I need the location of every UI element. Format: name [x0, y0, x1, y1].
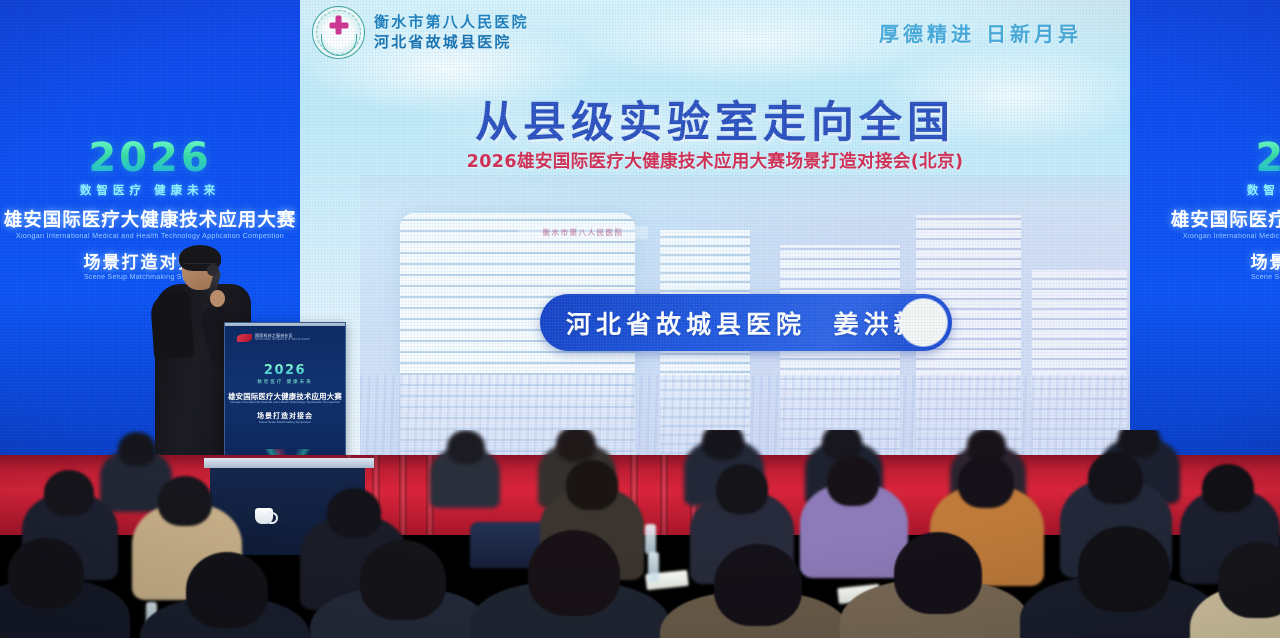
laurel-wreath-icon	[321, 34, 357, 56]
brand-year: 2026	[1152, 138, 1280, 178]
podium-main-title-en: Xiongan International Medical and Health…	[225, 400, 345, 404]
audience-area	[0, 430, 1280, 638]
podium-tagline: 数智医疗 健康未来	[225, 379, 345, 385]
presenter-hand	[210, 290, 225, 307]
podium-top-surface	[224, 322, 346, 326]
slide-subtitle: 2026雄安国际医疗大健康技术应用大赛场景打造对接会(北京)	[300, 148, 1130, 173]
brand-main-title: 雄安国际医疗大健康技术应用大赛	[0, 206, 300, 232]
organizer-mark-icon	[237, 334, 252, 342]
hospital-name-block: 衡水市第八人民医院 河北省故城县医院	[374, 13, 529, 53]
podium-year: 2026	[225, 363, 345, 378]
photo-horizon	[360, 175, 1130, 217]
organizer-name-en: NATIONAL SCIENCE & TECH PARK	[255, 338, 310, 342]
brand-tagline: 数智医疗 健康未来	[1152, 182, 1280, 198]
brand-tagline: 数智医疗 健康未来	[0, 182, 300, 198]
hospital-motto: 厚德精进 日新月异	[879, 18, 1082, 47]
led-wall-right-branding-panel: 2026 数智医疗 健康未来 雄安国际医疗大健康技术应用大赛 Xiongan I…	[1130, 0, 1280, 470]
speaker-name-bar: 河北省故城县医院 姜洪新	[540, 294, 952, 351]
hospital-branding: 衡水市第八人民医院 河北省故城县医院	[312, 6, 529, 59]
hospital-name-line1: 衡水市第八人民医院	[374, 13, 529, 33]
building-sign-text: 衡水市第八人民医院	[518, 226, 648, 239]
brand-main-title: 雄安国际医疗大健康技术应用大赛	[1152, 206, 1280, 232]
hospital-emblem-icon	[312, 6, 365, 59]
brand-main-title-en: Xiongan International Medical and Health…	[0, 233, 300, 240]
brand-subtitle: 场景打造对接会	[1152, 248, 1280, 273]
brand-year: 2026	[0, 138, 300, 178]
presentation-photo: 2026 数智医疗 健康未来 雄安国际医疗大健康技术应用大赛 Xiongan I…	[0, 0, 1280, 638]
slide-main-title: 从县级实验室走向全国	[300, 88, 1130, 150]
brand-main-title-en: Xiongan International Medical and Health…	[1149, 233, 1280, 240]
speaker-photo-placeholder	[900, 299, 947, 346]
water-bottle	[648, 552, 659, 582]
podium-organizer-logo: 国家科技之窗创业区 NATIONAL SCIENCE & TECH PARK	[237, 333, 310, 342]
presenter-left-shoulder	[150, 291, 195, 360]
speaker-affiliation: 河北省故城县医院	[566, 310, 806, 339]
speaker-affiliation-and-name: 河北省故城县医院 姜洪新	[566, 305, 923, 341]
water-bottle	[645, 524, 656, 554]
hospital-name-line2: 河北省故城县医院	[374, 33, 529, 53]
podium-subtitle-en: Scene Setup Matchmaking Symposium	[225, 420, 345, 424]
organizer-text: 国家科技之窗创业区 NATIONAL SCIENCE & TECH PARK	[255, 333, 310, 342]
presentation-slide: 衡水市第八人民医院 衡水市第八人民医院 河北省故城县医院 厚德精进 日新月异 从…	[300, 0, 1130, 470]
brand-block-right: 2026 数智医疗 健康未来 雄安国际医疗大健康技术应用大赛 Xiongan I…	[1152, 138, 1280, 281]
brand-subtitle-en: Scene Setup Matchmaking Symposium	[1152, 274, 1280, 281]
microphone-head-icon	[207, 264, 219, 276]
